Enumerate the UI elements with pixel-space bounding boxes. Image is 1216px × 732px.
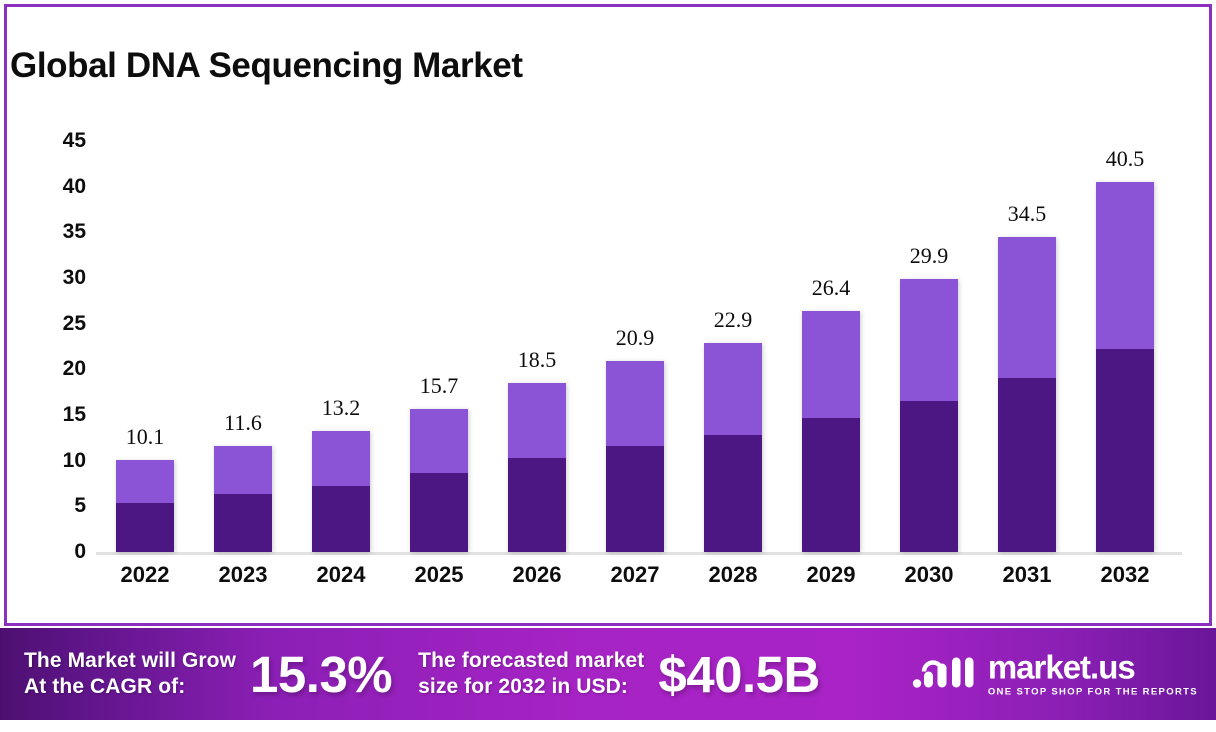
logo-tagline: ONE STOP SHOP FOR THE REPORTS: [988, 687, 1198, 698]
forecast-label-line2: size for 2032 in USD:: [418, 674, 644, 700]
y-axis-tick: 0: [22, 540, 86, 564]
bar-group[interactable]: 13.22024: [292, 0, 390, 626]
stacked-bar[interactable]: [214, 446, 272, 552]
bar-segment-lower: [998, 378, 1056, 552]
bar-segment-lower: [1096, 349, 1154, 552]
x-axis-tick: 2022: [96, 562, 194, 588]
bar-group[interactable]: 15.72025: [390, 0, 488, 626]
x-axis-tick: 2025: [390, 562, 488, 588]
forecast-value: $40.5B: [658, 645, 819, 704]
forecast-label: The forecasted market size for 2032 in U…: [418, 648, 644, 699]
bar-segment-upper: [214, 446, 272, 494]
stacked-bar[interactable]: [410, 409, 468, 552]
bar-series: 10.1202211.6202313.2202415.7202518.52026…: [96, 0, 1182, 626]
stacked-bar[interactable]: [802, 311, 860, 552]
stats-banner: The Market will Grow At the CAGR of: 15.…: [0, 628, 1216, 720]
x-axis-tick: 2028: [684, 562, 782, 588]
x-axis-tick: 2027: [586, 562, 684, 588]
bar-segment-upper: [900, 279, 958, 401]
stacked-bar[interactable]: [116, 460, 174, 552]
y-axis-tick: 25: [22, 312, 86, 336]
y-axis-tick: 5: [22, 494, 86, 518]
bar-segment-lower: [508, 458, 566, 552]
brand-logo[interactable]: market.us ONE STOP SHOP FOR THE REPORTS: [912, 651, 1198, 698]
bar-group[interactable]: 26.42029: [782, 0, 880, 626]
stacked-bar[interactable]: [312, 431, 370, 552]
x-axis-tick: 2030: [880, 562, 978, 588]
bar-segment-lower: [312, 486, 370, 552]
forecast-label-line1: The forecasted market: [418, 649, 644, 672]
bar-group[interactable]: 20.92027: [586, 0, 684, 626]
y-axis-tick: 45: [22, 129, 86, 153]
bar-value-label: 18.5: [488, 347, 586, 373]
bar-group[interactable]: 40.52032: [1076, 0, 1174, 626]
logo-wordmark: market.us: [988, 651, 1198, 684]
bar-segment-lower: [606, 446, 664, 552]
bar-group[interactable]: 34.52031: [978, 0, 1076, 626]
x-axis-tick: 2032: [1076, 562, 1174, 588]
x-axis-tick: 2029: [782, 562, 880, 588]
bar-value-label: 40.5: [1076, 146, 1174, 172]
bar-segment-lower: [900, 401, 958, 552]
bar-group[interactable]: 29.92030: [880, 0, 978, 626]
cagr-label-line2: At the CAGR of:: [24, 674, 236, 700]
forecast-stat: The forecasted market size for 2032 in U…: [418, 645, 820, 704]
bar-segment-upper: [116, 460, 174, 503]
stacked-bar[interactable]: [704, 343, 762, 552]
bar-segment-upper: [1096, 182, 1154, 349]
bar-value-label: 22.9: [684, 307, 782, 333]
bar-value-label: 26.4: [782, 275, 880, 301]
y-axis-tick: 30: [22, 266, 86, 290]
x-axis-tick: 2024: [292, 562, 390, 588]
bar-segment-lower: [802, 418, 860, 552]
bar-value-label: 15.7: [390, 373, 488, 399]
stacked-bar[interactable]: [900, 279, 958, 552]
x-axis-tick: 2023: [194, 562, 292, 588]
bar-segment-lower: [116, 503, 174, 552]
bar-group[interactable]: 10.12022: [96, 0, 194, 626]
y-axis: 454035302520151050: [22, 0, 86, 626]
bar-segment-lower: [704, 435, 762, 552]
cagr-label: The Market will Grow At the CAGR of:: [24, 648, 236, 699]
chart-infographic: Global DNA Sequencing Market 45403530252…: [0, 0, 1216, 732]
bar-segment-lower: [214, 494, 272, 552]
bar-segment-upper: [508, 383, 566, 458]
stacked-bar[interactable]: [998, 237, 1056, 552]
bar-group[interactable]: 22.92028: [684, 0, 782, 626]
y-axis-tick: 35: [22, 220, 86, 244]
bar-value-label: 11.6: [194, 410, 292, 436]
bar-group[interactable]: 11.62023: [194, 0, 292, 626]
bar-value-label: 20.9: [586, 325, 684, 351]
bar-segment-upper: [704, 343, 762, 435]
bar-value-label: 13.2: [292, 395, 390, 421]
bar-segment-lower: [410, 473, 468, 552]
bar-value-label: 34.5: [978, 201, 1076, 227]
market-us-logo-icon: [912, 652, 978, 697]
stacked-bar[interactable]: [508, 383, 566, 552]
bar-segment-upper: [998, 237, 1056, 378]
bar-segment-upper: [312, 431, 370, 486]
x-axis-tick: 2026: [488, 562, 586, 588]
x-axis-tick: 2031: [978, 562, 1076, 588]
logo-text: market.us ONE STOP SHOP FOR THE REPORTS: [988, 651, 1198, 698]
cagr-stat: The Market will Grow At the CAGR of: 15.…: [24, 645, 392, 704]
stacked-bar[interactable]: [1096, 182, 1154, 552]
stacked-bar[interactable]: [606, 361, 664, 552]
bar-group[interactable]: 18.52026: [488, 0, 586, 626]
cagr-value: 15.3%: [250, 645, 392, 704]
y-axis-tick: 40: [22, 175, 86, 199]
bar-segment-upper: [802, 311, 860, 418]
plot-area: 454035302520151050 10.1202211.6202313.22…: [0, 0, 1216, 626]
cagr-label-line1: The Market will Grow: [24, 649, 236, 672]
bar-value-label: 10.1: [96, 424, 194, 450]
y-axis-tick: 10: [22, 449, 86, 473]
y-axis-tick: 15: [22, 403, 86, 427]
y-axis-tick: 20: [22, 357, 86, 381]
bar-segment-upper: [410, 409, 468, 473]
bar-value-label: 29.9: [880, 243, 978, 269]
bar-segment-upper: [606, 361, 664, 446]
